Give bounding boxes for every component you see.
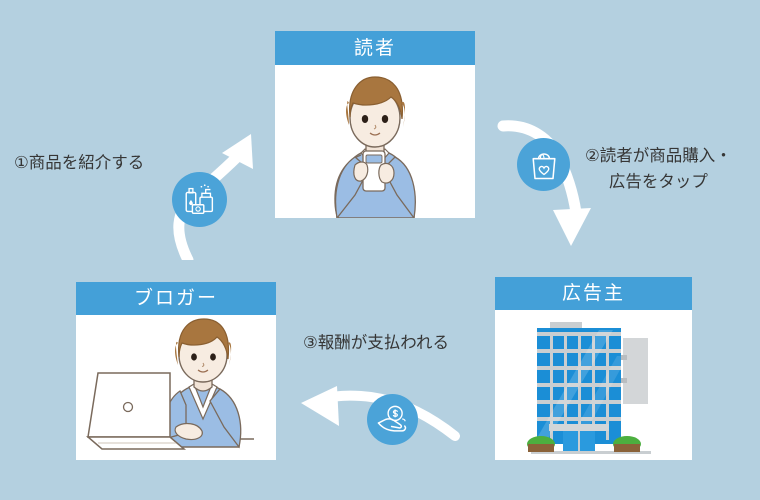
card-header-blogger: ブロガー xyxy=(76,282,276,315)
card-title-advertiser: 広告主 xyxy=(562,284,625,303)
step3-icon-badge xyxy=(367,394,418,445)
step1-icon-badge xyxy=(172,172,227,227)
step2-icon-badge xyxy=(517,138,570,191)
step1-label: ①商品を紹介する xyxy=(14,150,144,176)
card-illustration-advertiser xyxy=(495,310,692,460)
diagram-canvas: 読者 xyxy=(0,0,760,500)
card-illustration-blogger xyxy=(76,315,276,460)
shopping-bag-heart-icon xyxy=(526,147,562,183)
step3-label: ③報酬が支払われる xyxy=(303,330,449,356)
product-bottles-icon xyxy=(181,181,219,219)
woman-using-smartphone-icon xyxy=(275,65,475,218)
step2-label: ②読者が商品購入・ 広告をタップ xyxy=(585,143,732,195)
card-title-reader: 読者 xyxy=(354,39,396,58)
woman-typing-on-laptop-icon xyxy=(76,315,276,460)
card-illustration-reader xyxy=(275,65,475,218)
office-building-icon xyxy=(495,310,692,460)
node-card-blogger[interactable]: ブロガー xyxy=(76,282,276,460)
card-header-reader: 読者 xyxy=(275,31,475,65)
node-card-reader[interactable]: 読者 xyxy=(275,31,475,218)
card-header-advertiser: 広告主 xyxy=(495,277,692,310)
node-card-advertiser[interactable]: 広告主 xyxy=(495,277,692,460)
hand-holding-coin-icon xyxy=(375,402,410,437)
card-title-blogger: ブロガー xyxy=(134,289,218,308)
